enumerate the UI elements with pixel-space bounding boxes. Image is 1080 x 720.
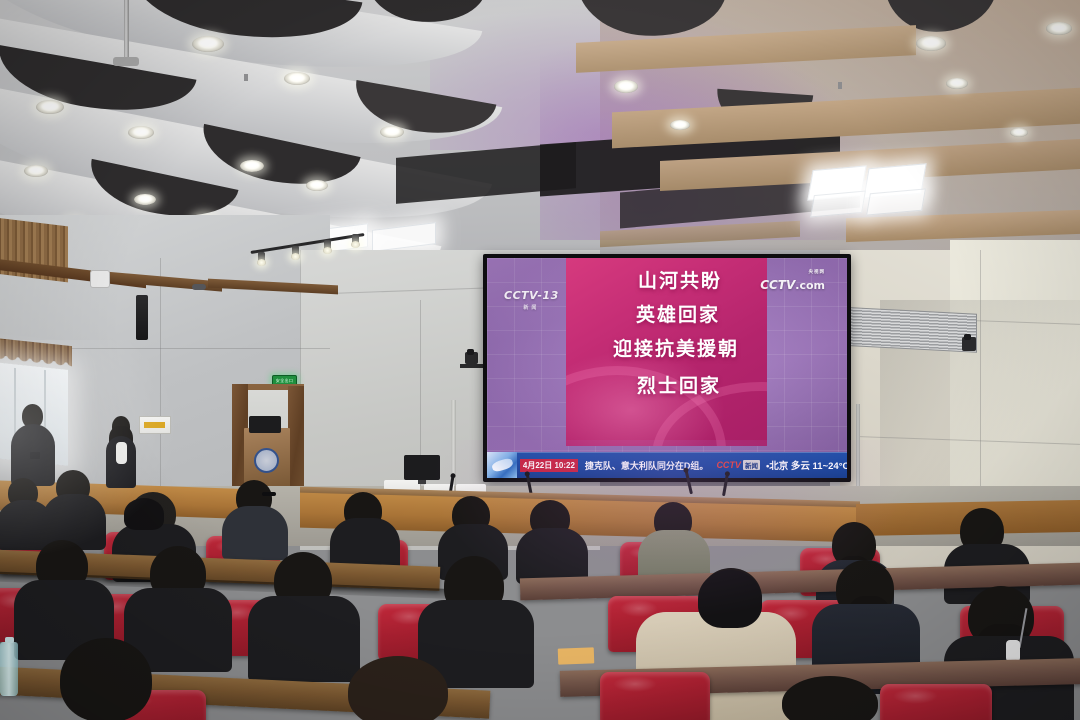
downlight-icon <box>670 120 690 130</box>
person-head <box>348 656 448 720</box>
sprinkler-icon <box>838 82 842 89</box>
downlight-icon <box>36 100 64 114</box>
downlight-icon <box>128 126 154 139</box>
desk-monitor <box>404 455 440 480</box>
downlight-icon <box>1046 22 1072 35</box>
watermark-main: CCTV <box>760 278 795 292</box>
cctv13-label: CCTV-13 <box>504 289 559 302</box>
track-spotlight-icon <box>292 246 299 256</box>
cctv13-sublabel: 新闻 <box>504 304 559 311</box>
door <box>288 386 304 496</box>
paper-sheet <box>558 647 595 664</box>
air-vent <box>833 306 977 353</box>
downlight-icon <box>380 126 404 138</box>
hanging-speaker <box>136 295 148 340</box>
downlight-icon <box>134 194 156 205</box>
ticker-brand-tag: 新闻 <box>743 460 760 470</box>
downlight-icon <box>916 36 946 51</box>
person-head <box>60 638 152 720</box>
seat <box>600 672 710 720</box>
led-screen[interactable]: 山河共盼 英雄回家 迎接抗美援朝 烈士回家 CCTV-13 新闻 CCTV.co… <box>487 258 847 478</box>
poster-line-4: 烈士回家 <box>487 377 847 396</box>
lecture-hall-photo: 安全出口 山河共盼 英雄回家 迎接抗美援朝 <box>0 0 1080 720</box>
glasses-icon <box>262 492 276 496</box>
water-bottle <box>0 642 18 696</box>
track-spotlight-icon <box>324 240 331 250</box>
sprinkler-icon <box>244 74 248 81</box>
podium-monitor <box>249 416 281 433</box>
person-head-front <box>698 570 762 628</box>
podium-emblem <box>254 448 279 473</box>
ceiling-pole <box>124 0 129 58</box>
wall-seam <box>160 258 161 498</box>
security-camera-icon <box>962 337 976 351</box>
downlight-icon <box>192 36 224 52</box>
downlight-icon <box>946 78 968 89</box>
ticker-headline: 捷克队、意大利队同分在D组。 <box>585 459 709 472</box>
person-body <box>248 596 360 682</box>
downlight-icon <box>614 80 638 93</box>
ticker-brand-main: CCTV <box>716 460 741 470</box>
exit-sign-label: 安全出口 <box>276 379 294 383</box>
downlight-icon <box>240 160 264 172</box>
downlight-icon <box>24 165 48 177</box>
ceiling-pole-base <box>113 57 139 66</box>
cctv13-logo: CCTV-13 新闻 <box>504 284 559 311</box>
watermark-small: 央视网 <box>809 269 826 275</box>
downlight-icon <box>1010 128 1028 137</box>
news-ticker: 4月22日 10:22 捷克队、意大利队同分在D组。 CCTV 新闻 •北京 多… <box>487 452 847 478</box>
ticker-weather: •北京 多云 11~24°C <box>766 458 847 472</box>
poster-headline: 迎接抗美援朝 <box>487 340 847 359</box>
ticker-date: 4月22日 10:22 <box>520 459 578 472</box>
seat <box>880 684 992 720</box>
ticker-logo-icon <box>487 452 517 478</box>
wall-speaker-icon <box>90 270 110 288</box>
downlight-icon <box>284 72 310 85</box>
track-spotlight-icon <box>258 252 265 262</box>
security-camera-icon <box>465 352 478 364</box>
poster-line-3: 迎接抗美援朝 <box>487 340 847 359</box>
screen-support-post <box>856 404 860 496</box>
ceiling-speaker-icon <box>192 284 206 290</box>
track-spotlight-icon <box>352 234 359 244</box>
person-body <box>222 506 288 560</box>
person-head <box>124 498 164 530</box>
person-body <box>516 528 588 584</box>
wall-notice-sign <box>139 416 171 434</box>
person-shirt <box>116 442 127 464</box>
phone-icon <box>30 452 40 459</box>
ticker-brand: CCTV 新闻 <box>716 460 760 470</box>
cctv-com-watermark: CCTV.com 央视网 <box>760 274 825 293</box>
poster-headline: 烈士回家 <box>487 377 847 396</box>
watermark-suffix: .com <box>795 279 825 292</box>
downlight-icon <box>306 180 328 191</box>
